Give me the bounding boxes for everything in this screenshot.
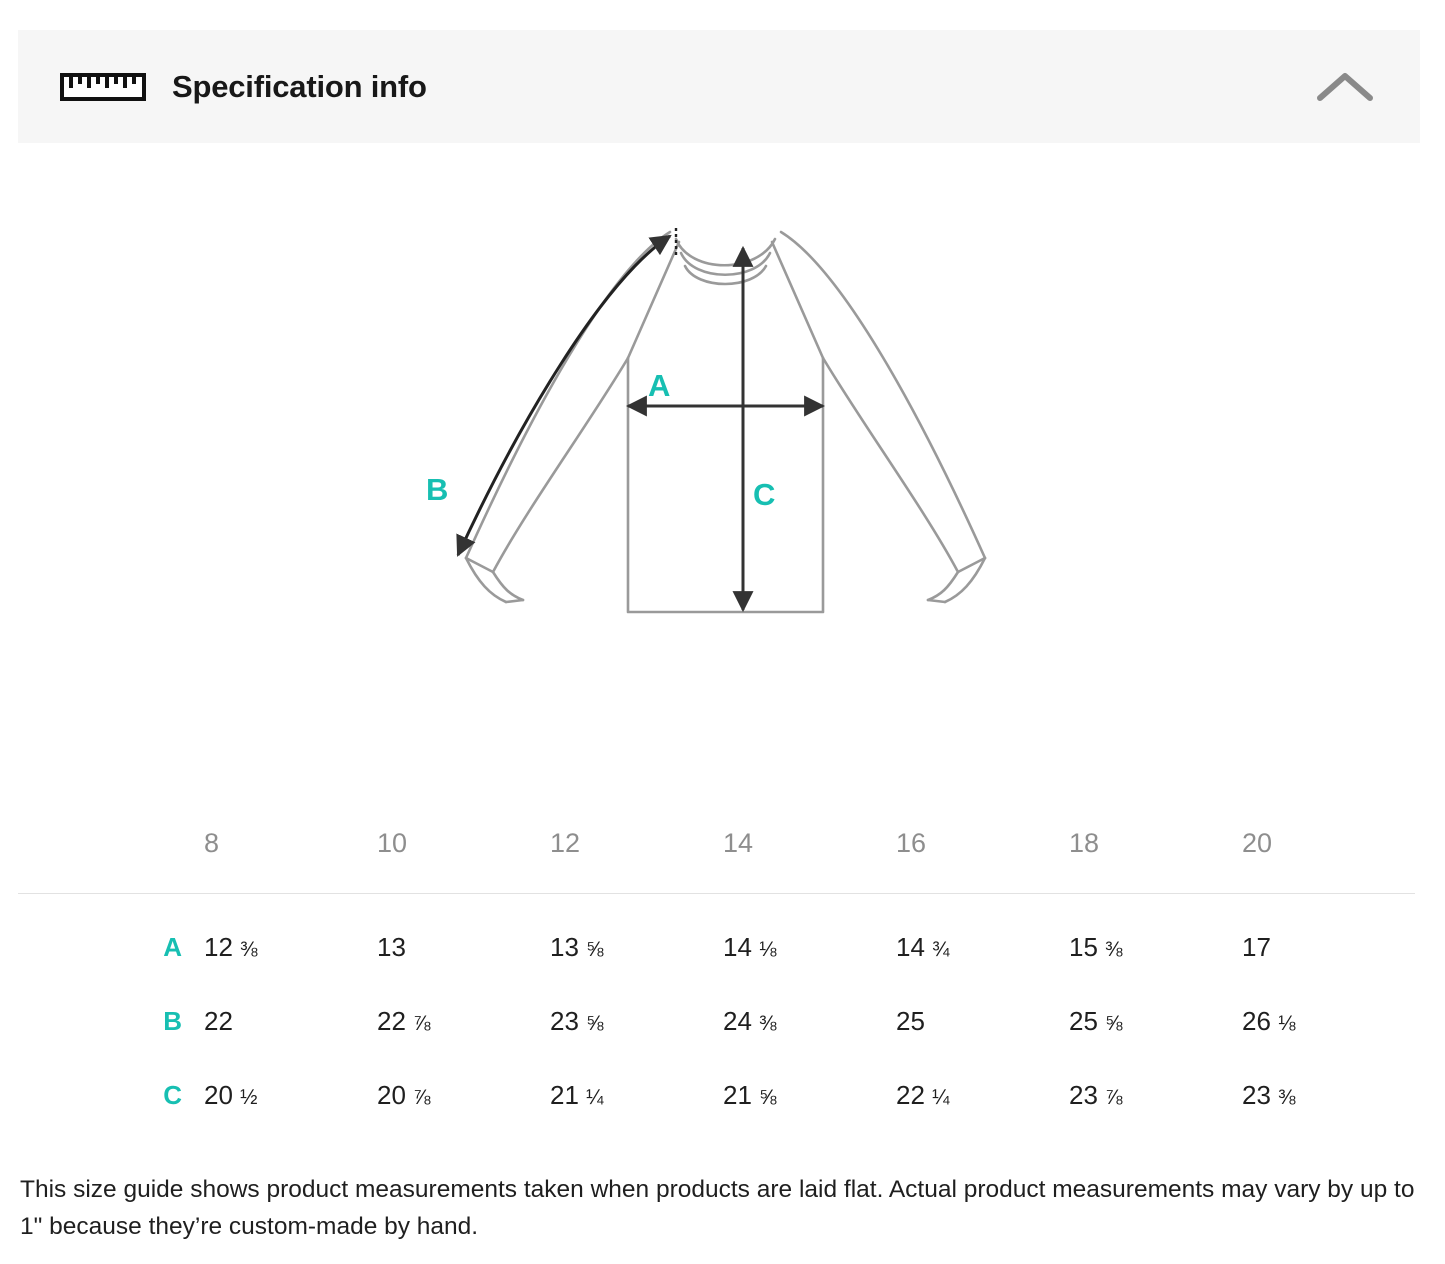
value-fraction: ⅛ [759,938,776,961]
size-header-row: 8 10 12 14 16 18 20 [18,828,1415,894]
value-fraction: ⅝ [586,938,603,961]
size-chart-head: 8 10 12 14 16 18 20 [18,828,1415,894]
measurement-cell: 21 ¼ [550,1042,723,1116]
shirt-outline [466,232,985,612]
value-fraction: ⅛ [1278,1012,1295,1035]
size-chart-table: 8 10 12 14 16 18 20 A 12 ⅜ 13 13 ⅝ 14 ⅛ … [18,828,1415,1116]
value-fraction: ¼ [932,1086,949,1109]
measurement-key-b: B [18,968,204,1042]
value-fraction: ⅞ [413,1012,430,1035]
value-whole: 20 [377,1080,406,1110]
value-whole: 17 [1242,932,1271,962]
measurement-cell: 14 ⅛ [723,894,896,969]
value-whole: 23 [1242,1080,1271,1110]
chevron-up-icon [1314,65,1376,109]
value-fraction: ⅝ [1105,1012,1122,1035]
value-whole: 15 [1069,932,1098,962]
measurement-cell: 20 ½ [204,1042,377,1116]
garment-diagram-svg: A B C [398,210,1058,670]
value-fraction: ⅝ [759,1086,776,1109]
measurement-label-b: B [426,472,448,507]
measurement-cell: 22 ¼ [896,1042,1069,1116]
size-header-cell: 10 [377,828,550,894]
value-whole: 22 [896,1080,925,1110]
size-header-cell: 20 [1242,828,1415,894]
garment-diagram: A B C [0,150,1445,780]
value-whole: 24 [723,1006,752,1036]
value-fraction: ½ [240,1086,257,1109]
value-fraction: ⅜ [240,938,257,961]
measurement-cell: 20 ⅞ [377,1042,550,1116]
value-whole: 26 [1242,1006,1271,1036]
value-whole: 14 [896,932,925,962]
value-fraction: ⅞ [413,1086,430,1109]
measurement-cell: 26 ⅛ [1242,968,1415,1042]
value-whole: 14 [723,932,752,962]
measurement-cell: 24 ⅜ [723,968,896,1042]
ruler-icon [60,70,146,104]
table-row: B 22 22 ⅞ 23 ⅝ 24 ⅜ 25 25 ⅝ 26 ⅛ [18,968,1415,1042]
value-fraction: ¼ [586,1086,603,1109]
value-whole: 25 [896,1006,925,1036]
measurement-cell: 23 ⅝ [550,968,723,1042]
value-fraction: ⅜ [759,1012,776,1035]
size-header-cell: 8 [204,828,377,894]
value-whole: 25 [1069,1006,1098,1036]
collapse-toggle-button[interactable] [1310,57,1380,117]
measurement-cell: 14 ¾ [896,894,1069,969]
value-whole: 22 [377,1006,406,1036]
measurement-cell: 17 [1242,894,1415,969]
measurement-cell: 23 ⅞ [1069,1042,1242,1116]
value-whole: 23 [1069,1080,1098,1110]
size-header-cell: 18 [1069,828,1242,894]
value-fraction: ¾ [932,938,949,961]
value-whole: 21 [723,1080,752,1110]
size-chart: 8 10 12 14 16 18 20 A 12 ⅜ 13 13 ⅝ 14 ⅛ … [18,828,1414,1116]
value-fraction: ⅜ [1278,1086,1295,1109]
value-fraction: ⅜ [1105,938,1122,961]
value-whole: 21 [550,1080,579,1110]
header-left-group: Specification info [60,69,427,105]
measurement-cell: 23 ⅜ [1242,1042,1415,1116]
size-header-cell: 12 [550,828,723,894]
size-guide-disclaimer: This size guide shows product measuremen… [20,1171,1420,1247]
measurement-cell: 25 ⅝ [1069,968,1242,1042]
value-whole: 20 [204,1080,233,1110]
value-whole: 22 [204,1006,233,1036]
table-row: A 12 ⅜ 13 13 ⅝ 14 ⅛ 14 ¾ 15 ⅜ 17 [18,894,1415,969]
specification-info-header[interactable]: Specification info [18,30,1420,143]
measurement-cell: 22 [204,968,377,1042]
measurement-cell: 22 ⅞ [377,968,550,1042]
size-header-cell: 16 [896,828,1069,894]
measurement-cell: 25 [896,968,1069,1042]
value-whole: 23 [550,1006,579,1036]
size-chart-body: A 12 ⅜ 13 13 ⅝ 14 ⅛ 14 ¾ 15 ⅜ 17 B 22 22… [18,894,1415,1117]
page-title: Specification info [172,69,427,105]
value-whole: 12 [204,932,233,962]
value-fraction: ⅝ [586,1012,603,1035]
size-header-cell: 14 [723,828,896,894]
table-row: C 20 ½ 20 ⅞ 21 ¼ 21 ⅝ 22 ¼ 23 ⅞ 23 ⅜ [18,1042,1415,1116]
measurement-cell: 15 ⅜ [1069,894,1242,969]
value-fraction: ⅞ [1105,1086,1122,1109]
measurement-label-c: C [753,477,775,512]
measurement-key-a: A [18,894,204,969]
measurement-cell: 13 ⅝ [550,894,723,969]
measurement-cell: 21 ⅝ [723,1042,896,1116]
measurement-key-c: C [18,1042,204,1116]
measurement-cell: 13 [377,894,550,969]
value-whole: 13 [550,932,579,962]
measurement-label-a: A [648,368,670,403]
measurement-cell: 12 ⅜ [204,894,377,969]
value-whole: 13 [377,932,406,962]
size-header-corner [18,828,204,894]
